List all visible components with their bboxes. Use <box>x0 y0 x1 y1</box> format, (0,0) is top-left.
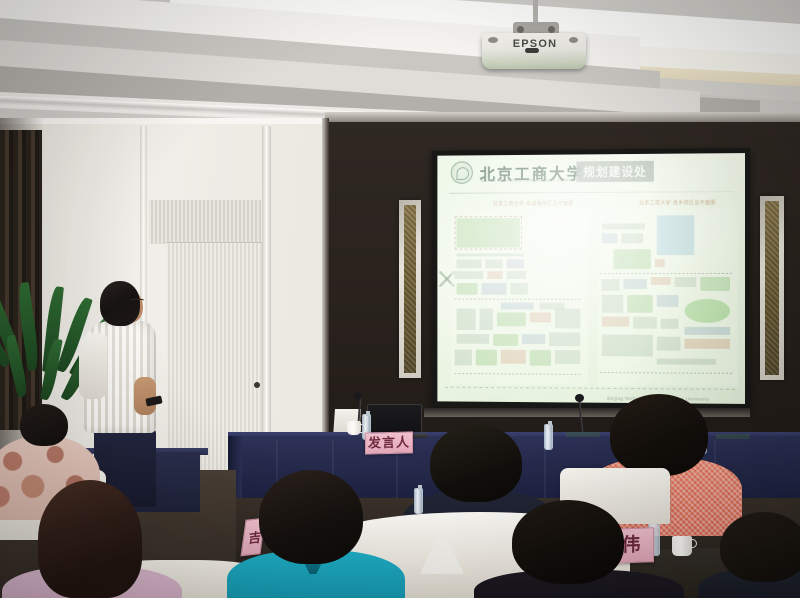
fluted-wall-panel-upper <box>149 200 261 244</box>
projector-lens <box>525 48 539 53</box>
microphone-head-icon <box>353 392 362 400</box>
water-bottle <box>544 424 553 450</box>
conference-room-photo: EPSON 北京工商大学 BEIJING TECHNOLOGY AND BUSI… <box>0 0 800 598</box>
campus-map-left <box>451 210 588 386</box>
dark-wall-top-trim <box>325 112 800 122</box>
decor-panel-texture <box>765 201 779 375</box>
audience-floral-head <box>20 404 68 446</box>
door-knob-icon[interactable] <box>254 382 260 388</box>
panelist-coral-head <box>610 394 708 476</box>
audience-teal-polo <box>243 470 383 598</box>
audience-long-hair <box>20 480 160 598</box>
slide-subtitle-right: 北京工商大学 良乡校区总平面图 <box>639 199 716 206</box>
desk-blotter <box>566 432 600 437</box>
audience-back-row <box>712 512 800 598</box>
presenter-clicker-remote[interactable] <box>145 395 162 406</box>
wall-decor-panel-right <box>760 196 784 380</box>
dark-wall-corner-edge <box>322 118 329 448</box>
left-wall-trim <box>0 118 330 124</box>
slide-footer-rule <box>445 387 738 390</box>
microphone-head-icon <box>575 394 584 402</box>
projection-screen-surface: 北京工商大学 BEIJING TECHNOLOGY AND BUSINESS U… <box>437 153 745 404</box>
wall-decor-panel-left <box>399 200 421 378</box>
slide-university-name-english: BEIJING TECHNOLOGY AND BUSINESS UNIVERSI… <box>481 178 581 183</box>
water-bottle <box>414 488 423 514</box>
slide-header-divider <box>449 191 734 194</box>
slide-department-name: 规划建设处 <box>576 161 653 182</box>
eyeglasses-icon <box>130 299 144 303</box>
audience-dark-jacket <box>494 500 654 598</box>
panelist-dark-head <box>430 424 522 502</box>
presenter-shirt-sleeve <box>79 333 107 399</box>
university-seal-logo <box>451 161 473 184</box>
name-placard-speaker: 发言人 <box>365 431 413 454</box>
coffee-cup <box>347 421 361 435</box>
decor-panel-texture <box>404 205 416 373</box>
slide-subtitle-left: 北京工商大学 阜成路校区总平面图 <box>493 200 573 207</box>
audience-dark-jacket-head <box>512 500 624 584</box>
audience-back-row-head <box>720 512 800 582</box>
campus-map-right <box>598 209 738 387</box>
audience-long-hair-head <box>38 480 142 598</box>
coffee-cup <box>672 536 692 556</box>
projection-screen: 北京工商大学 BEIJING TECHNOLOGY AND BUSINESS U… <box>432 148 750 410</box>
presenter-head <box>100 281 140 326</box>
placard-speaker-text: 发言人 <box>368 436 410 450</box>
audience-teal-head <box>259 470 363 564</box>
slide-header: 北京工商大学 BEIJING TECHNOLOGY AND BUSINESS U… <box>437 153 745 189</box>
